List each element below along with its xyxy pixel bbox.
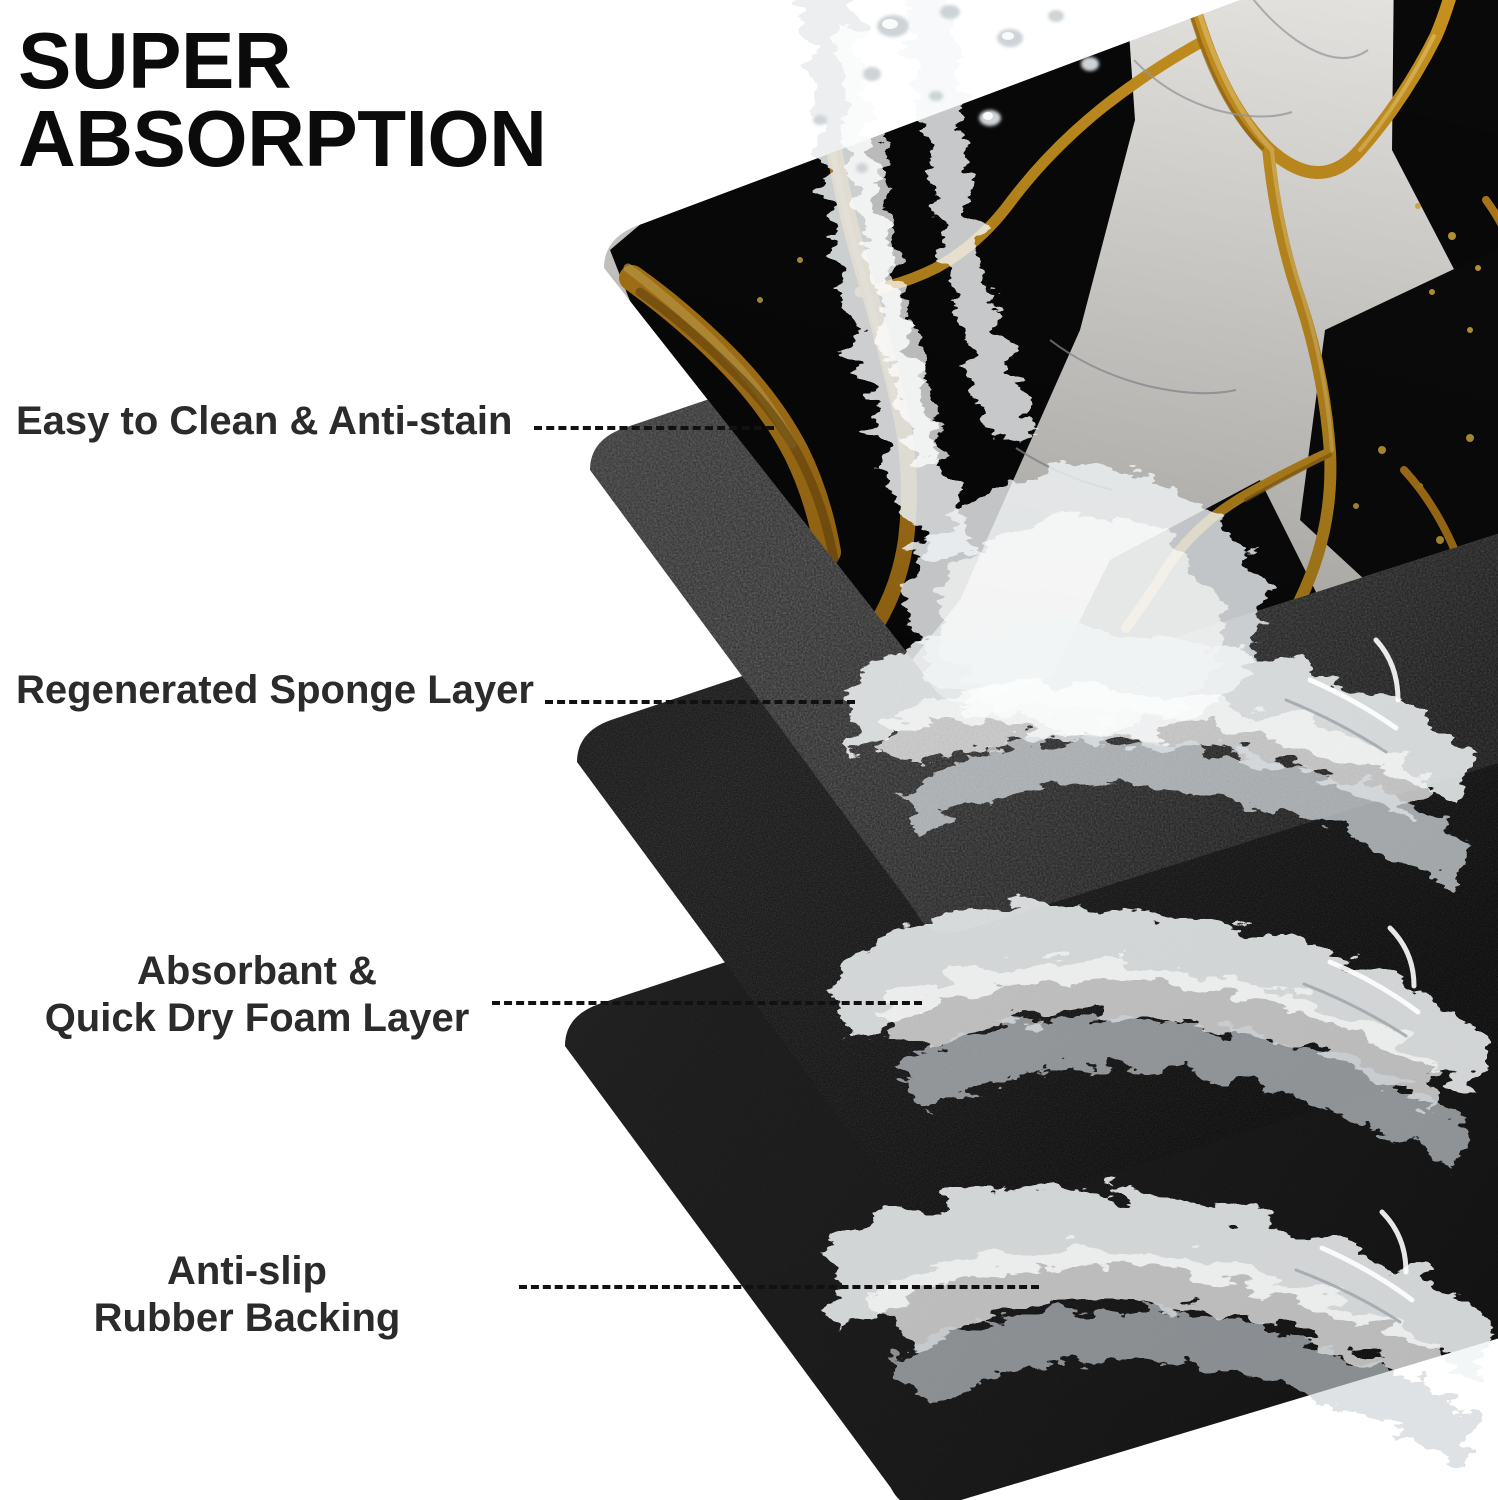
callout-label-regenerated-sponge: Regenerated Sponge Layer — [16, 667, 534, 714]
leader-line-anti-slip-rubber — [519, 1285, 1039, 1289]
callout-label-quick-dry-foam: Absorbant & Quick Dry Foam Layer — [32, 948, 482, 1042]
leader-line-regenerated-sponge — [545, 700, 855, 704]
callout-label-anti-slip-rubber: Anti-slip Rubber Backing — [32, 1248, 462, 1342]
product-infographic: SUPER ABSORPTION Easy to Clean & Anti-st… — [0, 0, 1498, 1500]
leader-line-easy-to-clean — [534, 426, 774, 430]
callout-label-easy-to-clean: Easy to Clean & Anti-stain — [16, 398, 512, 445]
leader-line-quick-dry-foam — [492, 1001, 922, 1005]
page-title: SUPER ABSORPTION — [18, 22, 658, 179]
